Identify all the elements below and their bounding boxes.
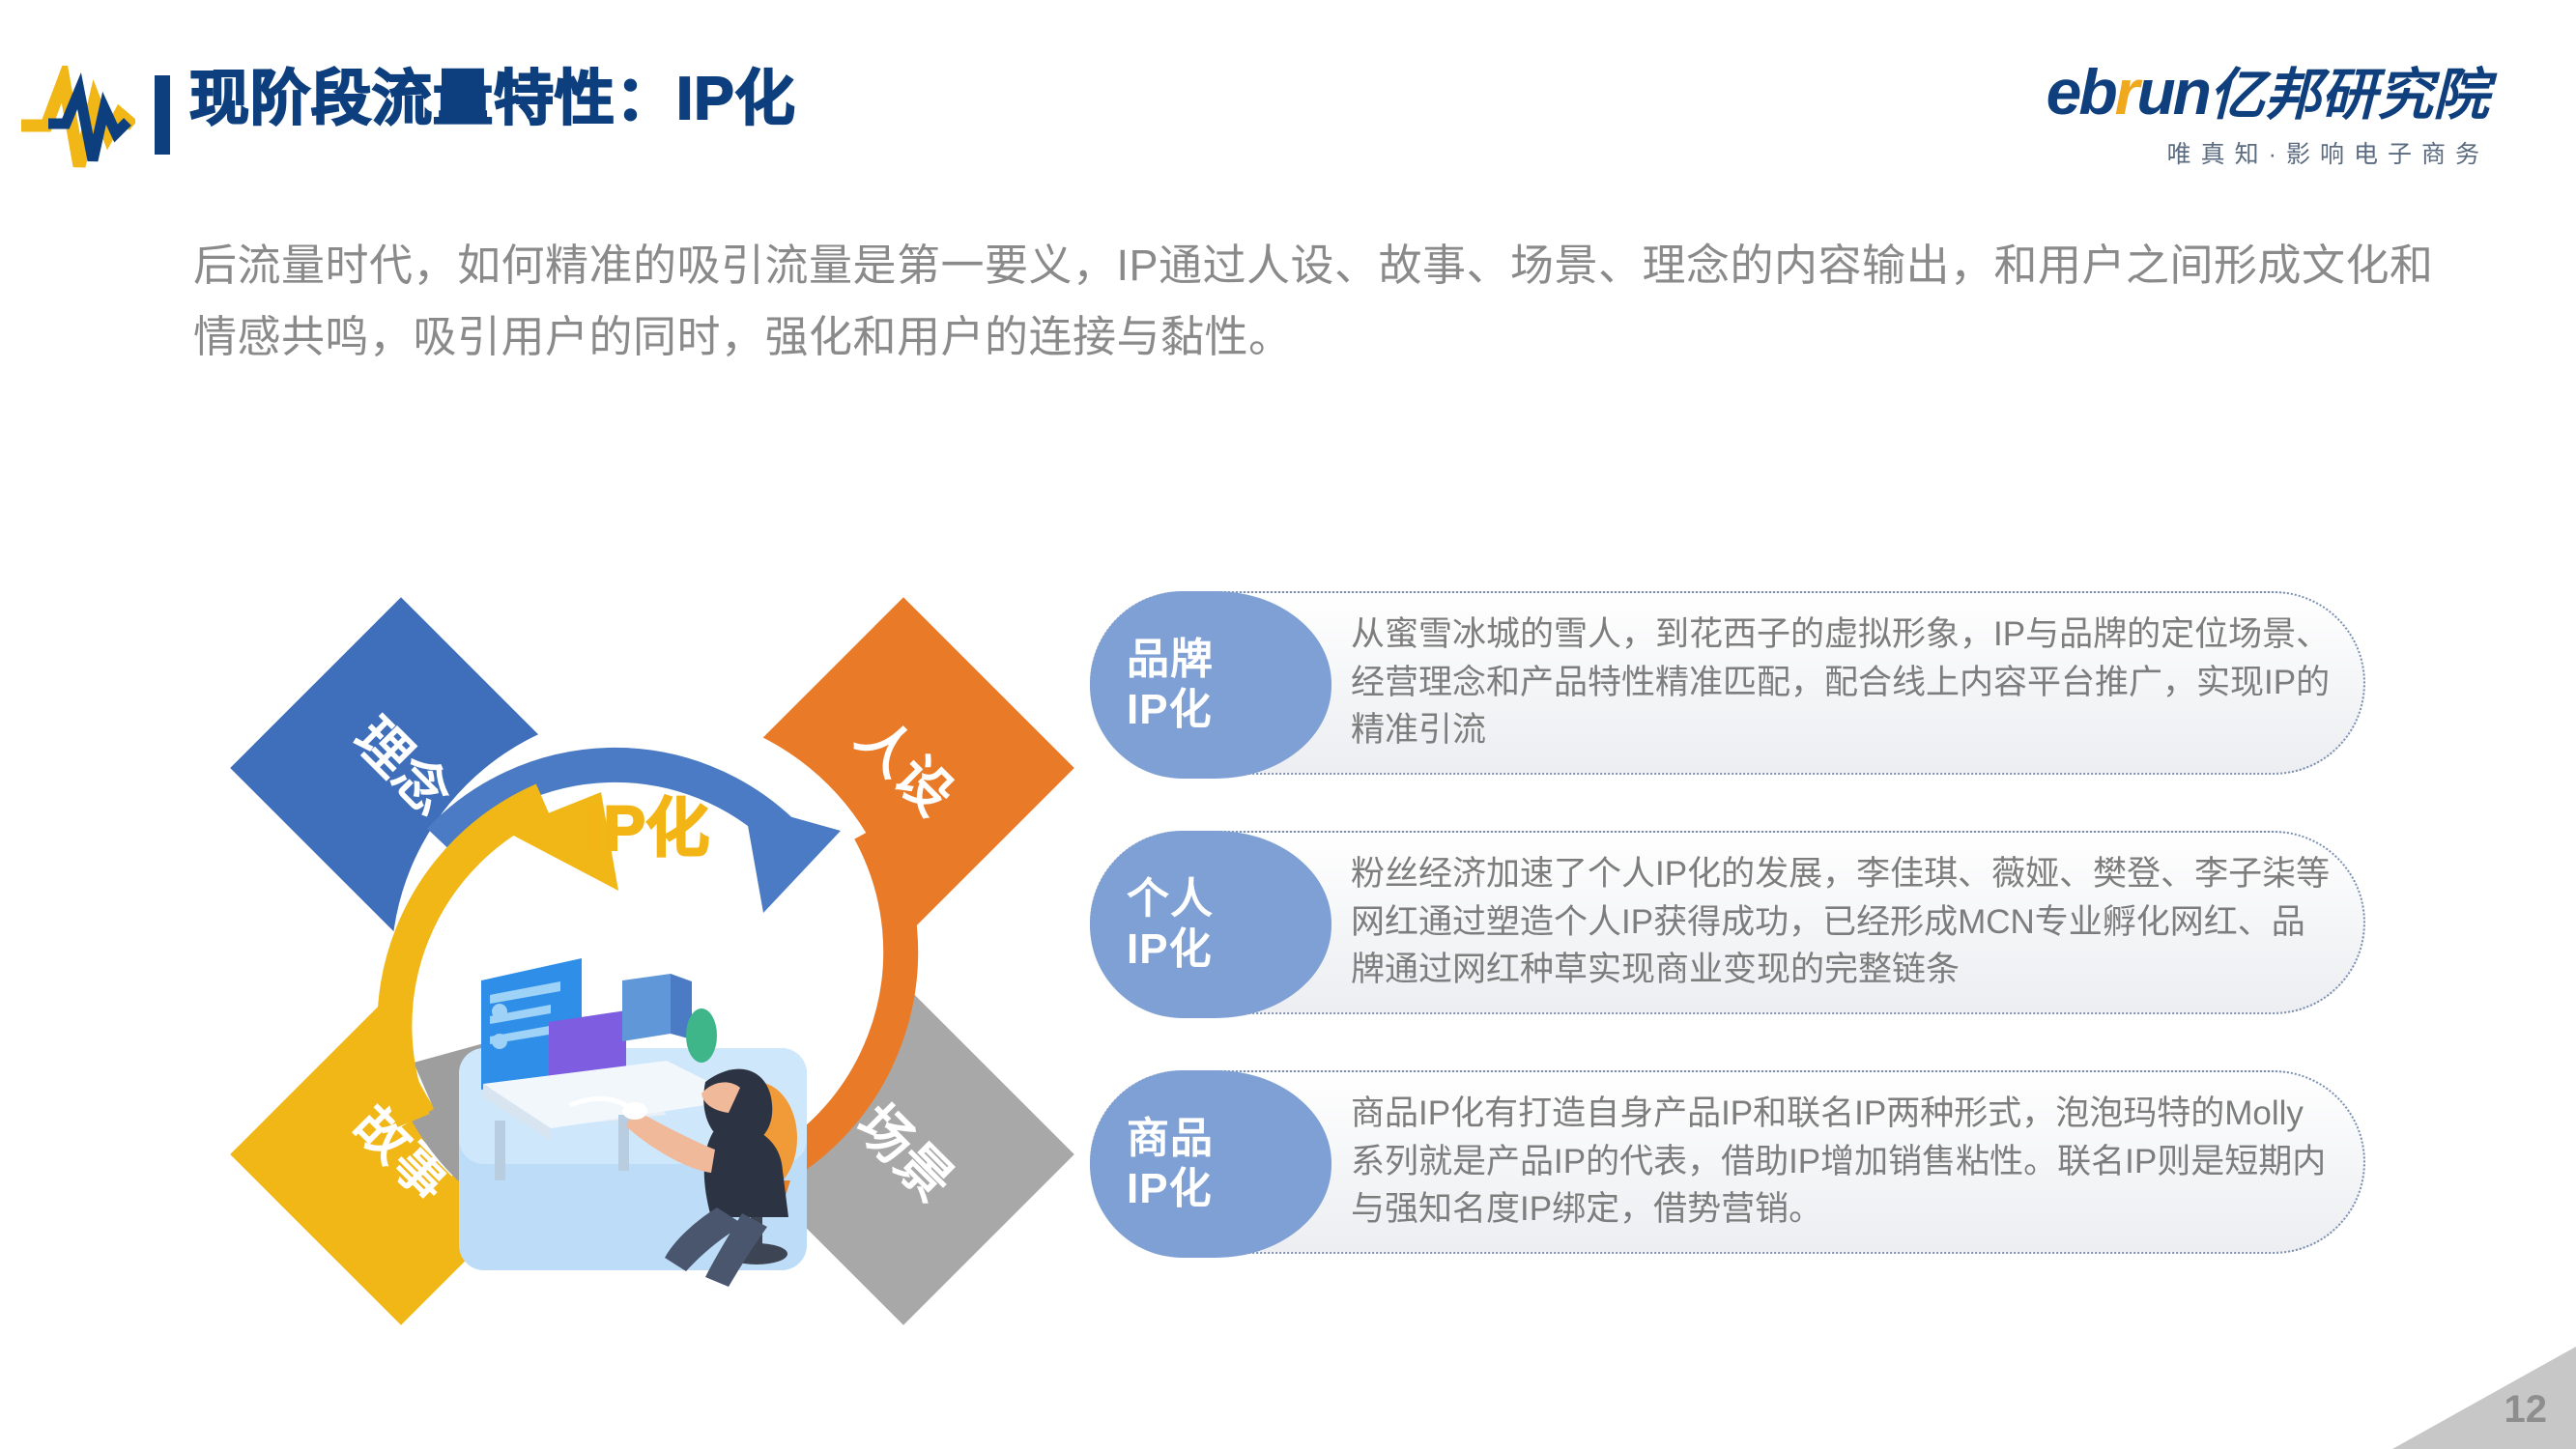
waveform-icon bbox=[19, 66, 135, 172]
info-card-personal[interactable]: 个人 IP化 粉丝经济加速了个人IP化的发展，李佳琪、薇娅、樊登、李子柒等网红通… bbox=[1090, 831, 2365, 1014]
intro-paragraph: 后流量时代，如何精准的吸引流量是第一要义，IP通过人设、故事、场景、理念的内容输… bbox=[193, 230, 2435, 374]
card-body-brand: 从蜜雪冰城的雪人，到花西子的虚拟形象，IP与品牌的定位场景、经营理念和产品特性精… bbox=[1351, 611, 2336, 754]
brand-wordmark-part2: un bbox=[2136, 56, 2209, 128]
brand-wordmark-cn: 亿邦研究院 bbox=[2209, 64, 2489, 127]
brand-wordmark: ebrun亿邦研究院 bbox=[2016, 60, 2489, 124]
title-divider bbox=[155, 75, 170, 155]
cycle-diagram: 理念 人设 故事 场景 bbox=[164, 541, 1131, 1362]
card-badge-product: 商品 IP化 bbox=[1090, 1070, 1331, 1258]
brand-wordmark-part1: eb bbox=[2046, 56, 2115, 128]
page-number: 12 bbox=[2504, 1388, 2548, 1432]
card-body-product: 商品IP化有打造自身产品IP和联名IP两种形式，泡泡玛特的Molly系列就是产品… bbox=[1351, 1090, 2336, 1234]
card-badge-personal: 个人 IP化 bbox=[1090, 831, 1331, 1018]
page-corner-triangle bbox=[2392, 1347, 2576, 1449]
card-badge-brand: 品牌 IP化 bbox=[1090, 591, 1331, 779]
page-corner: 12 bbox=[2392, 1347, 2576, 1449]
card-badge-line1: 品牌 bbox=[1127, 635, 1331, 685]
card-badge-line1: 商品 bbox=[1127, 1114, 1331, 1164]
brand-wordmark-accent: r bbox=[2115, 56, 2137, 128]
brand-logo: ebrun亿邦研究院 唯真知·影响电子商务 bbox=[2016, 60, 2489, 170]
card-badge-line1: 个人 bbox=[1127, 874, 1331, 924]
info-card-brand[interactable]: 品牌 IP化 从蜜雪冰城的雪人，到花西子的虚拟形象，IP与品牌的定位场景、经营理… bbox=[1090, 591, 2365, 775]
brand-tagline: 唯真知·影响电子商务 bbox=[2016, 135, 2489, 170]
card-badge-line2: IP化 bbox=[1127, 924, 1331, 975]
header-bar: 现阶段流量特性：IP化 ebrun亿邦研究院 唯真知·影响电子商务 bbox=[0, 0, 2576, 203]
diagram-center-label: IP化 bbox=[586, 792, 709, 864]
card-badge-line2: IP化 bbox=[1127, 1164, 1331, 1214]
card-body-personal: 粉丝经济加速了个人IP化的发展，李佳琪、薇娅、樊登、李子柒等网红通过塑造个人IP… bbox=[1351, 850, 2336, 994]
cards-column: 品牌 IP化 从蜜雪冰城的雪人，到花西子的虚拟形象，IP与品牌的定位场景、经营理… bbox=[1090, 591, 2462, 1310]
card-badge-line2: IP化 bbox=[1127, 685, 1331, 735]
page-title: 现阶段流量特性：IP化 bbox=[189, 68, 796, 130]
cycle-diagram-svg: 理念 人设 故事 场景 bbox=[164, 541, 1131, 1362]
info-card-product[interactable]: 商品 IP化 商品IP化有打造自身产品IP和联名IP两种形式，泡泡玛特的Moll… bbox=[1090, 1070, 2365, 1254]
